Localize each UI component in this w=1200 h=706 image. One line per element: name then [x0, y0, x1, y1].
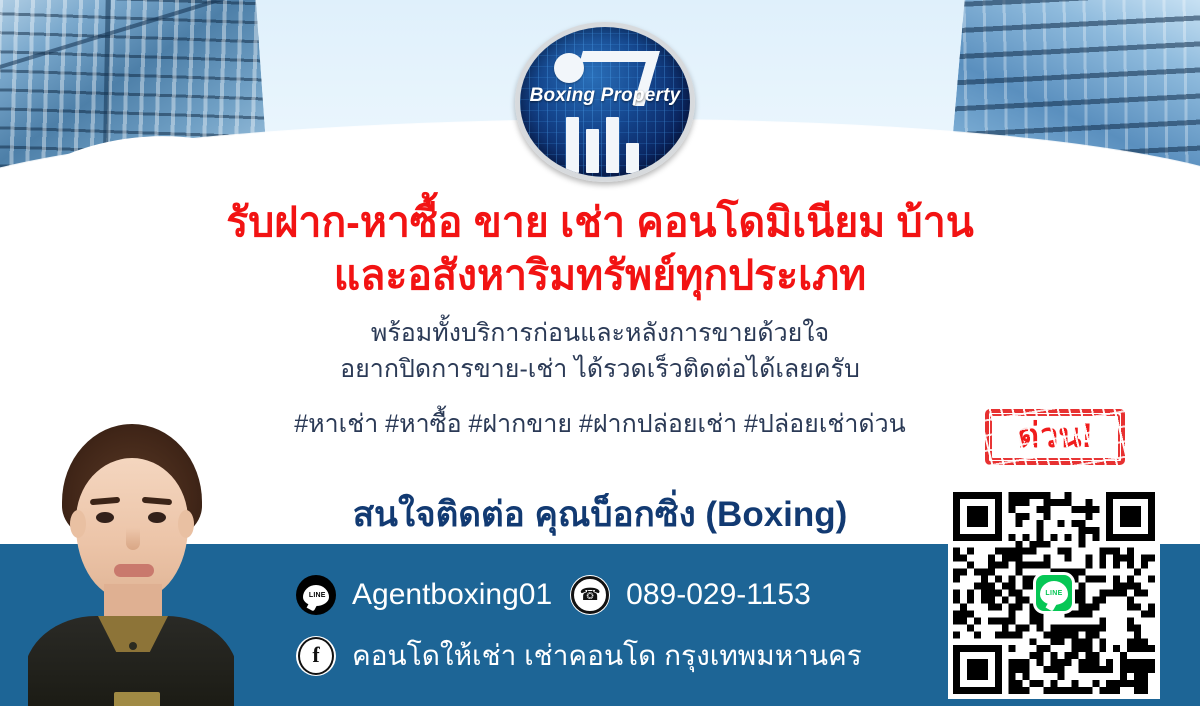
- portrait-ear-left: [70, 510, 86, 538]
- subtitle-line-1: พร้อมทั้งบริการก่อนและหลังการขายด้วยใจ: [0, 316, 1200, 352]
- agent-portrait-photo: [28, 424, 234, 706]
- line-icon[interactable]: Agentboxing01LINE: [296, 575, 336, 615]
- portrait-button: [129, 642, 137, 650]
- portrait-mouth: [114, 564, 154, 577]
- subtitle: พร้อมทั้งบริการก่อนและหลังการขายด้วยใจ อ…: [0, 316, 1200, 387]
- headline-line-1: รับฝาก-หาซื้อ ขาย เช่า คอนโดมิเนียม บ้าน: [0, 196, 1200, 249]
- portrait-ear-right: [178, 510, 194, 538]
- facebook-page-text[interactable]: คอนโดให้เช่า เช่าคอนโด กรุงเทพมหานคร: [352, 634, 862, 678]
- brand-logo: Boxing Property: [515, 22, 685, 172]
- contact-row-line-phone: Agentboxing01LINE Agentboxing01 ☎ 089-02…: [296, 573, 811, 617]
- line-logo-icon: LINE: [1033, 572, 1075, 614]
- phone-icon[interactable]: ☎: [570, 575, 610, 615]
- line-qr-code[interactable]: LINE: [948, 487, 1160, 699]
- logo-bar: [566, 117, 579, 173]
- headline-line-2: และอสังหาริมทรัพย์ทุกประเภท: [0, 249, 1200, 302]
- facebook-icon[interactable]: f: [296, 636, 336, 676]
- contact-row-facebook: f คอนโดให้เช่า เช่าคอนโด กรุงเทพมหานคร: [296, 634, 862, 678]
- portrait-eye-right: [148, 512, 166, 523]
- logo-text: Boxing Property: [520, 85, 690, 107]
- phone-number-text[interactable]: 089-029-1153: [626, 578, 811, 612]
- headline: รับฝาก-หาซื้อ ขาย เช่า คอนโดมิเนียม บ้าน…: [0, 196, 1200, 303]
- urgent-stamp: ด่วน!: [985, 409, 1125, 465]
- line-id-text[interactable]: Agentboxing01: [352, 578, 552, 612]
- advertisement-banner: Boxing Property รับฝาก-หาซื้อ ขาย เช่า ค…: [0, 0, 1200, 706]
- portrait-nose: [126, 528, 140, 550]
- portrait-eye-left: [96, 512, 114, 523]
- line-logo-label: LINE: [1045, 590, 1062, 597]
- stamp-label: ด่วน!: [985, 409, 1125, 465]
- portrait-name-badge: [114, 692, 160, 706]
- subtitle-line-2: อยากปิดการขาย-เช่า ได้รวดเร็วติดต่อได้เล…: [0, 352, 1200, 388]
- property-badge-icon: Boxing Property: [515, 22, 695, 182]
- logo-bar: [626, 143, 639, 173]
- logo-bar: [606, 117, 619, 173]
- logo-bar: [586, 129, 599, 173]
